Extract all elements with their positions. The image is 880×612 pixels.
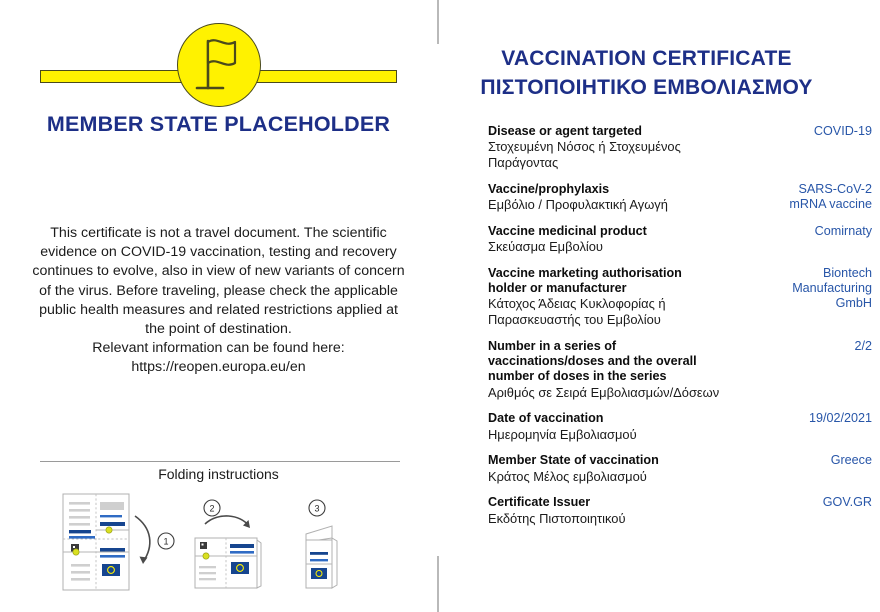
field-value-line: COVID-19 (720, 124, 872, 139)
field-value: 2/2 (720, 339, 880, 354)
field-label-en: Date of vaccination (488, 411, 720, 426)
left-panel: MEMBER STATE PLACEHOLDER This certificat… (0, 0, 437, 612)
field-value-line: mRNA vaccine (720, 197, 872, 212)
field-label-group: Disease or agent targetedΣτοχευμένη Νόσο… (488, 124, 720, 171)
field-label-en: Member State of vaccination (488, 453, 720, 468)
right-panel: VACCINATION CERTIFICATE ΠΙΣΤΟΠΟΙΗΤΙΚΟ ΕΜ… (440, 0, 880, 612)
field-label-group: Vaccine/prophylaxisΕμβόλιο / Προφυλακτικ… (488, 182, 720, 213)
field-value: 19/02/2021 (720, 411, 880, 426)
svg-text:2: 2 (209, 503, 214, 513)
svg-text:3: 3 (314, 503, 319, 513)
folding-instructions-title: Folding instructions (0, 466, 437, 482)
field-value-line: Biontech (720, 266, 872, 281)
field-label-en: Vaccine medicinal product (488, 224, 720, 239)
certificate-field-row: Certificate IssuerΕκδότης Πιστοποιητικού… (488, 495, 880, 526)
field-label-el: Στοχευμένη Νόσος ή Στοχευμένος Παράγοντα… (488, 139, 720, 170)
field-label-el: Εκδότης Πιστοποιητικού (488, 511, 720, 527)
field-value-line: GOV.GR (720, 495, 872, 510)
flag-icon (177, 23, 261, 107)
field-label-en: Certificate Issuer (488, 495, 720, 510)
field-label-en: Vaccine marketing authorisation holder o… (488, 266, 720, 297)
certificate-field-row: Vaccine marketing authorisation holder o… (488, 266, 880, 328)
certificate-title-el: ΠΙΣΤΟΠΟΙΗΤΙΚΟ ΕΜΒΟΛΙΑΣΜΟΥ (440, 73, 853, 102)
disclaimer-text: This certificate is not a travel documen… (28, 224, 409, 339)
certificate-field-row: Member State of vaccinationΚράτος Μέλος … (488, 453, 880, 484)
field-value: BiontechManufacturingGmbH (720, 266, 880, 312)
field-label-el: Αριθμός σε Σειρά Εμβολιασμών/Δόσεων (488, 385, 720, 401)
svg-text:1: 1 (163, 536, 168, 546)
field-label-group: Certificate IssuerΕκδότης Πιστοποιητικού (488, 495, 720, 526)
field-label-group: Date of vaccinationΗμερομηνία Εμβολιασμο… (488, 411, 720, 442)
certificate-field-row: Vaccine/prophylaxisΕμβόλιο / Προφυλακτικ… (488, 182, 880, 213)
field-value: SARS-CoV-2mRNA vaccine (720, 182, 880, 213)
field-label-group: Number in a series of vaccinations/doses… (488, 339, 720, 401)
field-value: COVID-19 (720, 124, 880, 139)
relevant-info-url[interactable]: https://reopen.europa.eu/en (28, 358, 409, 377)
section-divider (40, 461, 400, 462)
field-value-line: Manufacturing (720, 281, 872, 296)
field-value-line: Comirnaty (720, 224, 872, 239)
certificate-field-row: Disease or agent targetedΣτοχευμένη Νόσο… (488, 124, 880, 171)
field-label-el: Κράτος Μέλος εμβολιασμού (488, 469, 720, 485)
field-value-line: 2/2 (720, 339, 872, 354)
certificate-page: MEMBER STATE PLACEHOLDER This certificat… (0, 0, 880, 612)
certificate-title: VACCINATION CERTIFICATE ΠΙΣΤΟΠΟΙΗΤΙΚΟ ΕΜ… (440, 44, 853, 102)
fold-step-3-diagram: 3 (306, 500, 337, 588)
field-label-en: Number in a series of vaccinations/doses… (488, 339, 720, 385)
member-state-logo (0, 8, 437, 108)
relevant-info: Relevant information can be found here: … (28, 339, 409, 377)
field-label-el: Σκεύασμα Εμβολίου (488, 239, 720, 255)
field-label-en: Disease or agent targeted (488, 124, 720, 139)
field-label-el: Κάτοχος Άδειας Κυκλοφορίας ή Παρασκευαστ… (488, 296, 720, 327)
page-title: MEMBER STATE PLACEHOLDER (0, 112, 437, 137)
certificate-field-row: Number in a series of vaccinations/doses… (488, 339, 880, 401)
field-value: Greece (720, 453, 880, 468)
field-value-line: 19/02/2021 (720, 411, 872, 426)
field-value: Comirnaty (720, 224, 880, 239)
field-label-en: Vaccine/prophylaxis (488, 182, 720, 197)
field-value: GOV.GR (720, 495, 880, 510)
field-label-group: Vaccine medicinal productΣκεύασμα Εμβολί… (488, 224, 720, 255)
certificate-field-row: Vaccine medicinal productΣκεύασμα Εμβολί… (488, 224, 880, 255)
fold-step-1-diagram: 1 (63, 494, 174, 590)
field-value-line: GmbH (720, 296, 872, 311)
field-value-line: Greece (720, 453, 872, 468)
field-label-el: Ημερομηνία Εμβολιασμού (488, 427, 720, 443)
field-label-group: Vaccine marketing authorisation holder o… (488, 266, 720, 328)
panel-divider (437, 0, 439, 612)
fold-step-2-diagram: 2 (195, 500, 261, 588)
field-label-group: Member State of vaccinationΚράτος Μέλος … (488, 453, 720, 484)
certificate-field-row: Date of vaccinationΗμερομηνία Εμβολιασμο… (488, 411, 880, 442)
relevant-info-label: Relevant information can be found here: (28, 339, 409, 358)
certificate-fields: Disease or agent targetedΣτοχευμένη Νόσο… (488, 124, 880, 537)
folding-instructions-diagram: .pg { fill:#ffffff; stroke:#b0b0b0; stro… (40, 486, 410, 606)
field-value-line: SARS-CoV-2 (720, 182, 872, 197)
field-label-el: Εμβόλιο / Προφυλακτική Αγωγή (488, 197, 720, 213)
certificate-title-en: VACCINATION CERTIFICATE (440, 44, 853, 73)
